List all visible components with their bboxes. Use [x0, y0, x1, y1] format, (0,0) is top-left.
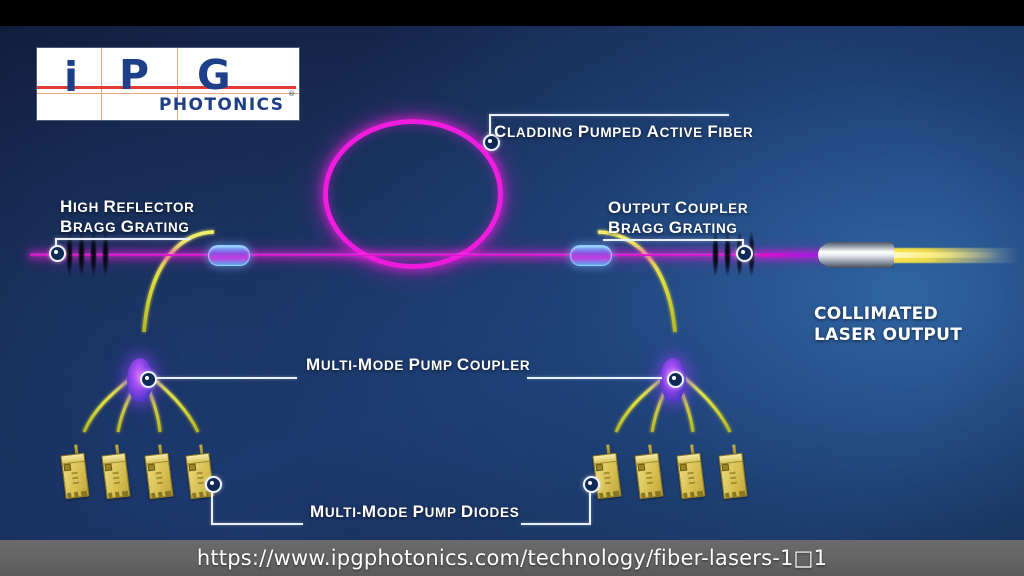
label-high-reflector-bragg-grating: HIGH REFLECTOR BRAGG GRATING [60, 197, 195, 237]
cladding-pumped-active-fiber-loop [323, 119, 503, 269]
pump-diode [144, 453, 173, 500]
pump-combiner-capsule-left [208, 245, 250, 266]
logo-registered-mark: ® [288, 90, 295, 98]
label-pump-diodes-text: MULTI-MODE PUMP DIODES [310, 505, 519, 520]
label-high-reflector-line2: BRAGG GRATING [60, 217, 195, 237]
label-collimated-laser-output: COLLIMATED LASER OUTPUT [814, 304, 962, 345]
leader-line-cladding [489, 114, 729, 116]
pump-diode [634, 453, 663, 500]
label-pump-coupler-text: MULTI-MODE PUMP COUPLER [306, 358, 530, 373]
leader-line-output-coupler [603, 239, 743, 241]
leader-line-pump-diodes-left [211, 523, 303, 525]
callout-marker-pump-coupler-right [667, 371, 684, 388]
leader-line-pump-diodes-right [521, 523, 591, 525]
ipg-photonics-logo: i P G PHOTONICS ® [37, 48, 299, 120]
label-high-reflector-line1: HIGH REFLECTOR [60, 197, 195, 217]
pump-diode [592, 453, 621, 500]
label-output-coupler-line2: BRAGG GRATING [608, 218, 748, 238]
callout-marker-pump-diodes-right [583, 476, 600, 493]
label-multimode-pump-diodes: MULTI-MODE PUMP DIODES [310, 502, 519, 522]
callout-marker-output-coupler [736, 245, 753, 262]
leader-line-high-reflector [55, 238, 190, 240]
callout-marker-pump-coupler-left [140, 371, 157, 388]
label-cladding-pumped-active-fiber: CLADDING PUMPED ACTIVE FIBER [494, 122, 753, 142]
active-fiber-line [30, 253, 830, 257]
logo-wordmark-letters: i P G [37, 53, 299, 97]
label-cladding-text: CLADDING PUMPED ACTIVE FIBER [494, 125, 753, 140]
logo-letter-g: G [197, 51, 231, 99]
leader-line-pump-coupler-right [527, 377, 662, 379]
label-collimated-line1: COLLIMATED [814, 304, 962, 325]
logo-photonics-text: PHOTONICS [159, 95, 284, 115]
logo-letter-i: i [64, 53, 78, 101]
callout-marker-high-reflector [49, 245, 66, 262]
label-output-coupler-bragg-grating: OUTPUT COUPLER BRAGG GRATING [608, 198, 748, 238]
page-url-text: https://www.ipgphotonics.com/technology/… [0, 540, 1024, 576]
fiber-laser-diagram: i P G PHOTONICS ® [0, 26, 1024, 540]
pump-diode [101, 453, 130, 500]
pump-diode [676, 453, 705, 500]
leader-line-pump-coupler-left [152, 377, 297, 379]
callout-marker-pump-diodes-left [205, 476, 222, 493]
screenshot-root: i P G PHOTONICS ® [0, 0, 1024, 576]
pump-combiner-capsule-right [570, 245, 612, 266]
pump-diode [60, 453, 89, 500]
label-collimated-line2: LASER OUTPUT [814, 325, 962, 346]
letterbox-bar-top [0, 0, 1024, 26]
pump-diode [718, 453, 747, 500]
label-output-coupler-line1: OUTPUT COUPLER [608, 198, 748, 218]
collimator-lens [818, 242, 894, 268]
laser-output-beam-core [892, 252, 1002, 258]
logo-letter-p: P [119, 51, 149, 99]
label-multimode-pump-coupler: MULTI-MODE PUMP COUPLER [306, 355, 530, 375]
